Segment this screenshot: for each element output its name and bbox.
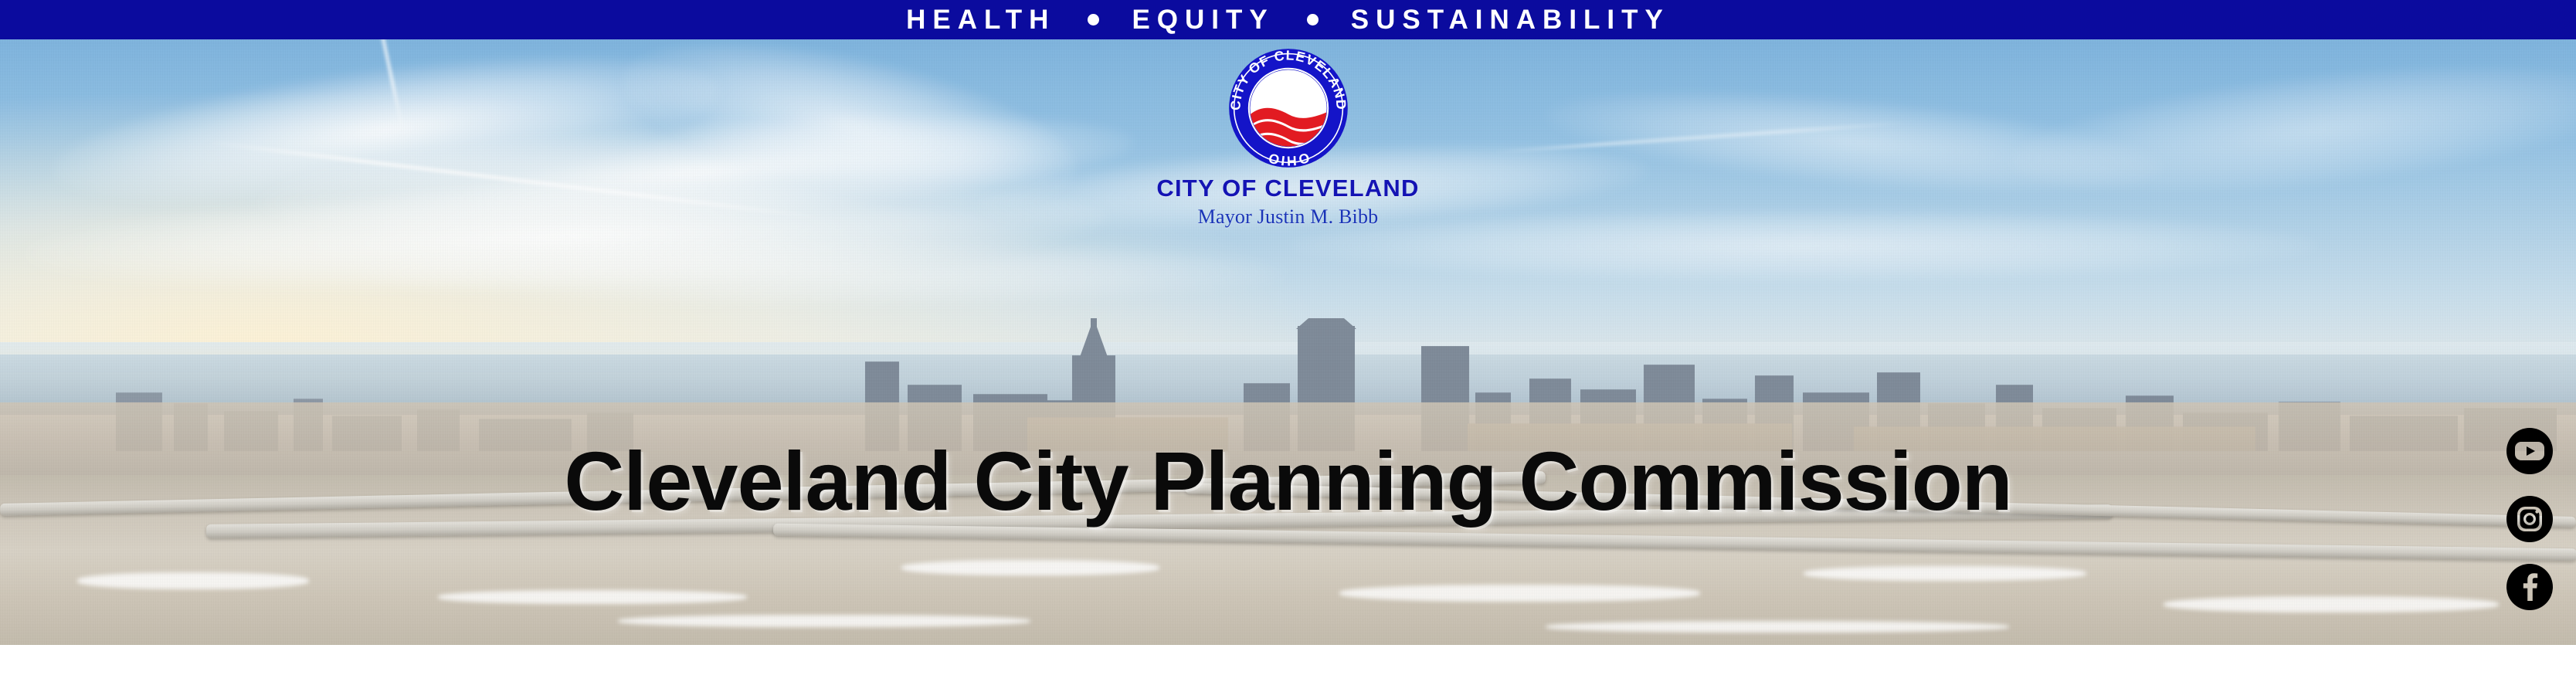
tagline-banner: HEALTH EQUITY SUSTAINABILITY xyxy=(0,0,2576,39)
bottom-white-strip xyxy=(0,645,2576,682)
youtube-icon[interactable] xyxy=(2500,422,2559,480)
tagline-separator-dot-1 xyxy=(1088,14,1099,25)
city-name-wordmark: CITY OF CLEVELAND xyxy=(1072,176,1505,202)
city-of-cleveland-seal: CITY OF CLEVELAND OHIO xyxy=(1227,46,1350,170)
city-branding-block: CITY OF CLEVELAND OHIO CITY OF CLEVELAND… xyxy=(1072,46,1505,227)
social-links xyxy=(2500,422,2559,616)
cloud xyxy=(361,239,1288,306)
instagram-icon[interactable] xyxy=(2500,490,2559,548)
page-title: Cleveland City Planning Commission xyxy=(0,439,2576,523)
mayor-name-label: Mayor Justin M. Bibb xyxy=(1072,206,1505,227)
tagline-word-health: HEALTH xyxy=(906,6,1055,33)
tagline-word-sustainability: SUSTAINABILITY xyxy=(1351,6,1670,33)
tagline-word-equity: EQUITY xyxy=(1132,6,1274,33)
hero-photo: CITY OF CLEVELAND OHIO CITY OF CLEVELAND… xyxy=(0,39,2576,645)
tagline-separator-dot-2 xyxy=(1307,14,1319,25)
facebook-icon[interactable] xyxy=(2500,558,2559,616)
page-root: HEALTH EQUITY SUSTAINABILITY xyxy=(0,0,2576,682)
